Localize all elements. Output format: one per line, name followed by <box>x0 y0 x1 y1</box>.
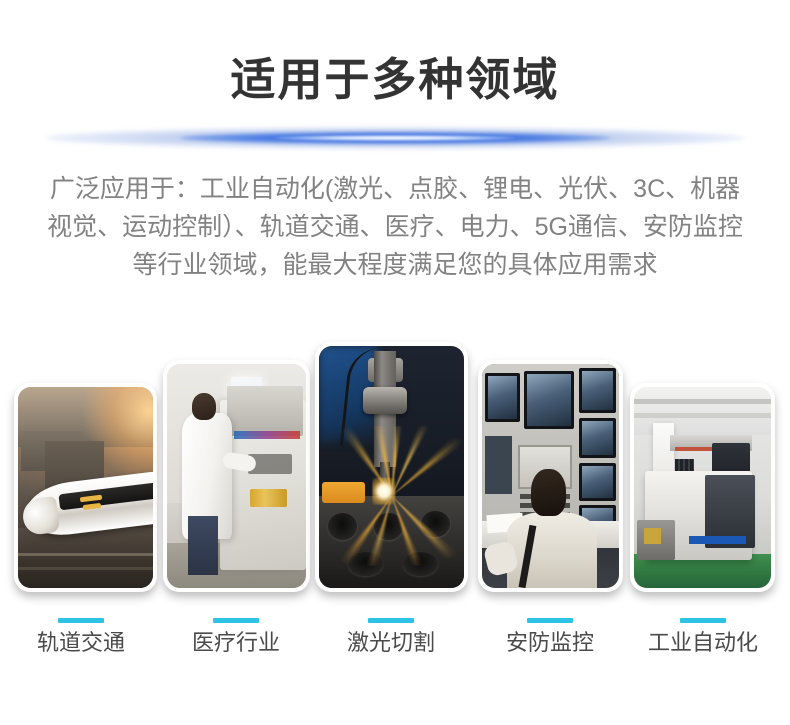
caption-label: 医疗行业 <box>161 632 311 654</box>
lab-analyzer-color-band <box>234 431 301 439</box>
train-rail-1 <box>18 553 153 556</box>
description-line-1: 广泛应用于：工业自动化(激光、点胶、锂电、光伏、3C、机器 <box>24 170 766 208</box>
caption-label: 安防监控 <box>475 632 625 654</box>
lab-sample-tray <box>250 489 286 507</box>
cctv-monitor-3 <box>579 368 616 413</box>
caption-rail-transit: 轨道交通 <box>6 618 156 654</box>
caption-row: 轨道交通 医疗行业 激光切割 安防监控 工业自动化 <box>0 618 790 678</box>
cnc-ceiling-beam-2 <box>634 413 771 418</box>
train-platform <box>18 528 153 588</box>
application-card-medical[interactable] <box>163 360 310 592</box>
caption-laser-cutting: 激光切割 <box>316 618 466 654</box>
cnc-yellow-box <box>644 528 662 544</box>
caption-security-monitoring: 安防监控 <box>475 618 625 654</box>
lab-technician-head <box>192 393 216 420</box>
cctv-photo <box>482 364 619 588</box>
cnc-blue-band <box>689 536 747 544</box>
accent-bar-icon <box>58 618 104 623</box>
application-card-laser-cutting[interactable] <box>315 342 468 592</box>
application-card-security-monitoring[interactable] <box>478 360 623 592</box>
accent-bar-icon <box>680 618 726 623</box>
accent-bar-icon <box>527 618 573 623</box>
caption-industrial-automation: 工业自动化 <box>628 618 778 654</box>
cnc-ceiling-beam-1 <box>634 399 771 404</box>
caption-label: 轨道交通 <box>6 632 156 654</box>
laser-head-ring <box>363 387 408 414</box>
caption-label: 激光切割 <box>316 632 466 654</box>
cctv-operator-head <box>531 469 565 516</box>
train-rail-2 <box>18 567 153 570</box>
cctv-monitor-1 <box>485 373 521 422</box>
train-photo <box>18 387 153 588</box>
description-line-3: 等行业领域，能最大程度满足您的具体应用需求 <box>24 246 766 284</box>
cctv-monitor-4 <box>579 418 616 458</box>
page-title: 适用于多种领域 <box>0 54 790 106</box>
cctv-monitor-2 <box>524 371 573 429</box>
cctv-dark-panel <box>485 436 512 494</box>
cnc-photo <box>634 387 771 588</box>
lab-analyzer-top <box>227 386 303 435</box>
cctv-monitor-5 <box>579 463 616 501</box>
divider-core-highlight <box>275 135 515 141</box>
divider-glow <box>0 118 790 158</box>
caption-label: 工业自动化 <box>628 632 778 654</box>
header-section: 适用于多种领域 <box>0 0 790 106</box>
laser-arc-flash <box>373 478 396 505</box>
lab-technician-trousers <box>188 516 219 574</box>
description-line-2: 视觉、运动控制）、轨道交通、医疗、电力、5G通信、安防监控 <box>24 208 766 246</box>
caption-medical: 医疗行业 <box>161 618 311 654</box>
accent-bar-icon <box>213 618 259 623</box>
application-card-rail-transit[interactable] <box>14 383 157 592</box>
laser-photo <box>319 346 464 588</box>
accent-bar-icon <box>368 618 414 623</box>
lab-photo <box>167 364 306 588</box>
application-cards-row <box>0 330 790 600</box>
application-card-industrial-automation[interactable] <box>630 383 775 592</box>
description-paragraph: 广泛应用于：工业自动化(激光、点胶、锂电、光伏、3C、机器 视觉、运动控制）、轨… <box>24 170 766 284</box>
